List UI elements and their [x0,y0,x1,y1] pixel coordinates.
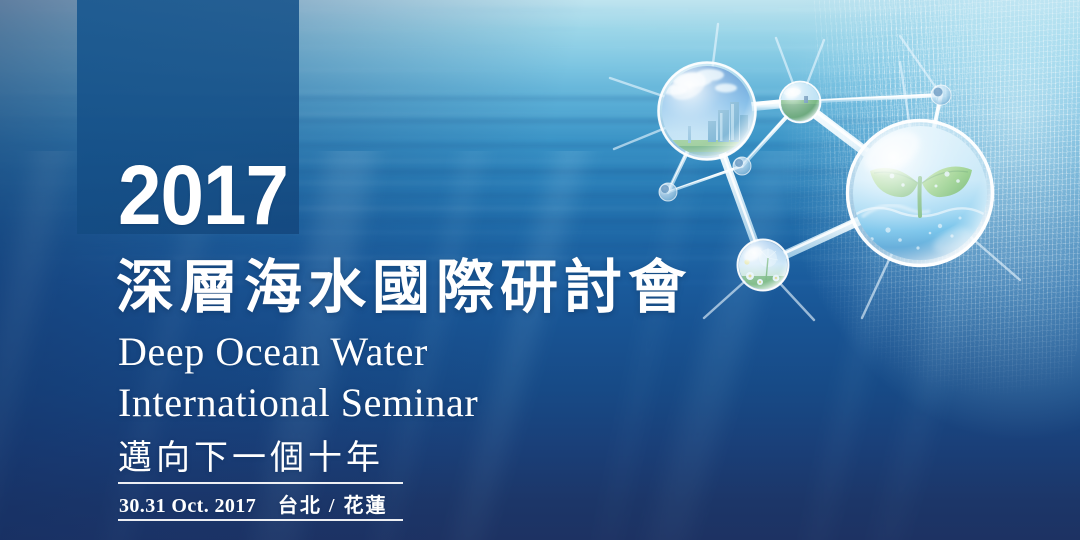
event-title-english-line1: Deep Ocean Water [118,326,478,377]
event-title-english: Deep Ocean Water International Seminar [118,326,478,428]
event-tagline: 邁向下一個十年 [118,430,384,479]
event-date: 30.31 Oct. 2017 [119,495,256,517]
divider-top [118,482,403,484]
event-title-english-line2: International Seminar [118,377,478,428]
banner-text-content: 2017 深層海水國際研討會 Deep Ocean Water Internat… [0,0,1080,540]
event-banner: 2017 深層海水國際研討會 Deep Ocean Water Internat… [0,0,1080,540]
event-title-chinese: 深層海水國際研討會 [116,258,692,317]
divider-bottom [118,519,403,521]
event-locations: 台北 / 花蓮 [278,495,388,517]
event-dateline: 30.31 Oct. 2017 台北 / 花蓮 [119,489,387,518]
year-heading: 2017 [118,159,288,233]
